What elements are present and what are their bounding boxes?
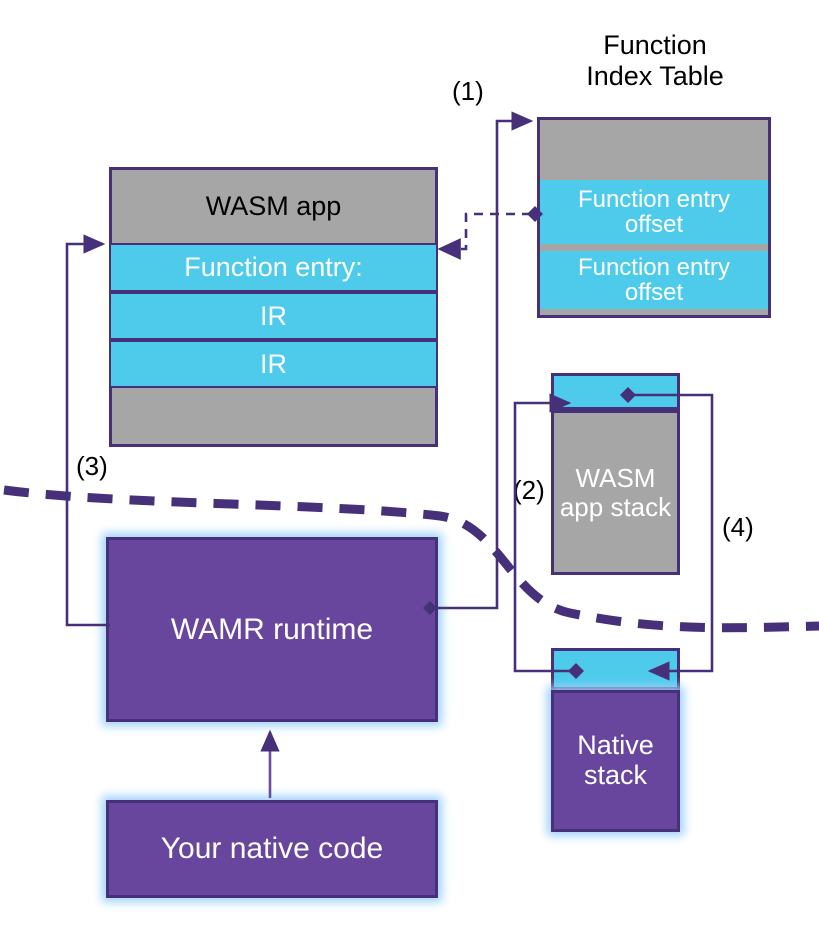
connector-table-to-wasm-app [440,206,543,249]
diamond-source-wasm-app-stack [620,387,636,403]
connector-step-3 [67,244,110,625]
diamond-source-table-entry [527,206,543,222]
sandbox-boundary-dashed-line [4,490,819,628]
connector-step-2 [515,403,584,679]
connector-layer [0,0,819,925]
diamond-source-wamr-right [423,601,437,615]
diamond-source-native-stack [568,663,584,679]
diagram-canvas: Function Index Table (1) (2) (3) (4) Fun… [0,0,819,925]
